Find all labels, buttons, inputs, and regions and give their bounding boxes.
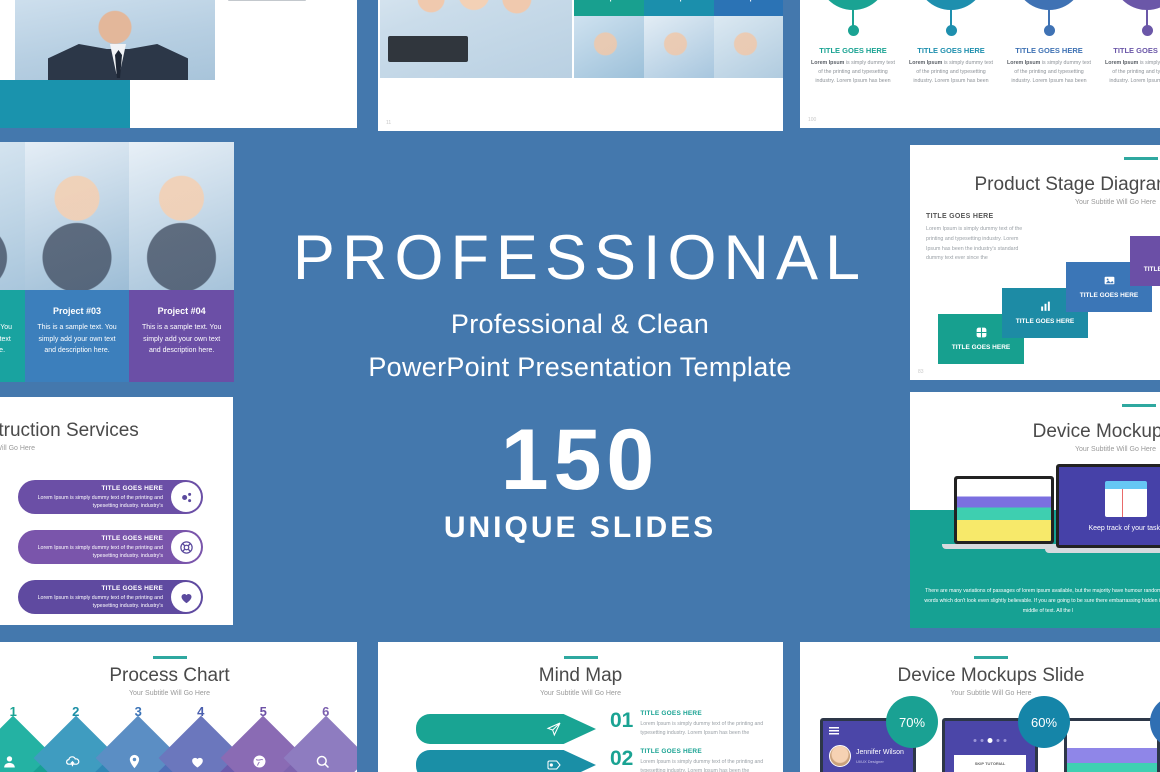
concept-tile-label: Concept #01 [588, 0, 630, 2]
hero-block: PROFESSIONAL Professional & Clean PowerP… [240, 140, 920, 630]
laptop-task-mockup: Keep track of your tasks [1056, 464, 1160, 556]
service-body: Lorem Ipsum is simply dummy text of the … [28, 544, 163, 561]
slide-product-stage-diagram[interactable]: Product Stage Diagram Your Subtitle Will… [910, 145, 1160, 380]
page-title: Process Chart [0, 665, 357, 687]
mindmap-arrow-1[interactable] [416, 714, 596, 744]
service-right-pill[interactable]: TITLE GOES HERE Lorem Ipsum is simply du… [18, 480, 203, 514]
stage-label: TITLE GOES HERE [1080, 291, 1139, 300]
step-stem [852, 10, 854, 26]
stage-label: TITLE GOES HERE [1144, 265, 1160, 274]
item-title: TITLE GOES HERE [640, 748, 778, 755]
concept-tile-1[interactable]: Concept #01 [574, 0, 644, 16]
concept-tile-label: Concept #03 [728, 0, 770, 2]
stage-staircase: TITLE GOES HERE TITLE GOES HERE TITLE GO… [938, 244, 1160, 364]
user-role: UI/UX Designer [856, 759, 884, 764]
thumbnail-3 [714, 16, 783, 78]
user-icon [2, 754, 18, 770]
thumbnail-1 [574, 16, 644, 78]
title-rule [564, 656, 598, 659]
slide-construction-services[interactable]: Construction Services Your Subtitle Will… [0, 397, 233, 625]
thumbnail-2 [644, 16, 714, 78]
step-item-3[interactable]: STEP 03 TITLE GOES HERE Lorem Ipsum is s… [1006, 0, 1092, 86]
title-rule [1124, 157, 1158, 160]
skip-tutorial-button[interactable]: SKIP TUTORIAL [954, 761, 1026, 766]
title-rule [974, 656, 1008, 659]
device-chart-mockup [1064, 718, 1160, 772]
item-body: Lorem Ipsum is simply dummy text of the … [640, 720, 778, 739]
page-title: Product Stage Diagram [910, 174, 1160, 196]
item-body: Lorem Ipsum is simply dummy text of the … [640, 758, 778, 772]
service-row-3[interactable]: Lorem Ipsum is simply dummy text of the … [0, 579, 233, 615]
project-desc: This is a sample text. You simply add yo… [34, 322, 121, 357]
step-item-2[interactable]: STEP 02 TITLE GOES HERE Lorem Ipsum is s… [908, 0, 994, 86]
step-dot [1044, 25, 1055, 36]
step-title: TITLE GOES HERE [819, 46, 887, 55]
laptop-screen [954, 476, 1054, 544]
location-pin-icon [127, 754, 143, 770]
service-row-1[interactable]: Lorem Ipsum is simply dummy text of the … [0, 479, 233, 515]
project-card-3[interactable]: Project #04 This is a sample text. You s… [129, 290, 234, 382]
hero-slide-count-label: UNIQUE SLIDES [444, 511, 716, 545]
step-stem [1048, 10, 1050, 26]
mindmap-items: 01 TITLE GOES HERE Lorem Ipsum is simply… [610, 710, 778, 772]
page-title: Device Mockups Slide [800, 665, 1160, 687]
services-header: Construction Services Your Subtitle Will… [0, 411, 233, 452]
process-number: 1 [0, 704, 45, 719]
thumbnail-strip [574, 16, 783, 78]
step-dot [848, 25, 859, 36]
page-title: Construction Services [0, 420, 233, 442]
tutorial-card: SKIP TUTORIAL [954, 755, 1026, 772]
step-circle-1: STEP 01 [818, 0, 888, 10]
process-diamonds [0, 728, 357, 772]
hero-slide-count: 150 [501, 417, 660, 503]
step-body: Lorem Ipsum is simply dummy text of the … [811, 59, 895, 86]
item-number: 02 [610, 748, 633, 772]
process-node-1[interactable] [0, 728, 45, 772]
area-chart-graphic [957, 479, 1051, 541]
project-photo-1 [0, 142, 25, 290]
area-chart-graphic [1067, 748, 1157, 772]
step-dot [1142, 25, 1153, 36]
slide-concepts[interactable]: Concept #01 Concept #01 [378, 0, 783, 131]
title-rule [153, 656, 187, 659]
project-card-2[interactable]: Project #03 This is a sample text. You s… [25, 290, 130, 382]
teal-accent-bar [0, 80, 130, 128]
step-item-1[interactable]: STEP 01 TITLE GOES HERE Lorem Ipsum is s… [810, 0, 896, 86]
service-right-pill[interactable]: TITLE GOES HERE Lorem Ipsum is simply du… [18, 530, 203, 564]
process-node-5[interactable] [232, 728, 295, 772]
page-number: 100 [808, 117, 816, 123]
process-numbers: 1 2 3 4 5 6 [0, 704, 357, 719]
heart-icon [189, 754, 205, 770]
slide-mind-map[interactable]: Mind Map Your Subtitle Will Go Here 01 T… [378, 642, 783, 772]
mindmap-arrows [416, 714, 596, 772]
slide-device-mockups[interactable]: Device Mockups Your Subtitle Will Go Her… [910, 392, 1160, 628]
page-subtitle: Your Subtitle Will Go Here [378, 690, 783, 697]
laptop-shape [388, 36, 468, 62]
slide-process-chart[interactable]: Process Chart Your Subtitle Will Go Here… [0, 642, 357, 772]
mindmap-header: Mind Map Your Subtitle Will Go Here [378, 656, 783, 697]
puzzle-icon [975, 326, 988, 339]
step-title: TITLE GOES HERE [1015, 46, 1083, 55]
hero-subtitle-2: PowerPoint Presentation Template [368, 352, 791, 383]
screen-caption: Keep track of your tasks [1088, 525, 1160, 532]
item-number: 01 [610, 710, 633, 739]
step-circle-2: STEP 02 [916, 0, 986, 10]
page-subtitle: Your Subtitle Will Go Here [800, 690, 1160, 697]
project-title: Project #03 [34, 306, 121, 316]
step-title: TITLE GOES HERE [917, 46, 985, 55]
service-right-pill[interactable]: TITLE GOES HERE Lorem Ipsum is simply du… [18, 580, 203, 614]
stage-label: TITLE GOES HERE [952, 343, 1011, 352]
task-app-screen: Keep track of your tasks [1059, 467, 1160, 545]
project-photo-2 [25, 142, 130, 290]
slide-device-mockups-slide[interactable]: Device Mockups Slide Your Subtitle Will … [800, 642, 1160, 772]
step-body: Lorem Ipsum is simply dummy text of the … [1105, 59, 1160, 86]
service-rows: Lorem Ipsum is simply dummy text of the … [0, 479, 233, 625]
block-title: TITLE GOES HERE [926, 213, 1034, 220]
process-node-2[interactable] [45, 728, 108, 772]
step-title: TITLE GOES HERE [1113, 46, 1160, 55]
devices-header: Device Mockups Slide Your Subtitle Will … [800, 656, 1160, 697]
step-dot [946, 25, 957, 36]
project-desc: This is a sample text. You simply add yo… [138, 322, 225, 357]
page-subtitle: Your Subtitle Will Go Here [910, 199, 1160, 206]
service-row-2[interactable]: Lorem Ipsum is simply dummy text of the … [0, 529, 233, 565]
share-nodes-icon [171, 482, 201, 512]
badge-percent-2: 60% [1018, 696, 1070, 748]
step-stem [950, 10, 952, 26]
hamburger-menu-icon[interactable] [829, 727, 839, 735]
project-photo-3 [129, 142, 234, 290]
process-node-4[interactable] [170, 728, 233, 772]
project-cards: Project #02 This is a sample text. You s… [0, 290, 234, 382]
bar-chart-icon [1039, 300, 1052, 313]
item-title: TITLE GOES HERE [640, 710, 778, 717]
page-subtitle: Your Subtitle Will Go Here [910, 446, 1160, 453]
title-rule [1122, 404, 1156, 407]
page-number: 11 [386, 120, 391, 126]
team-photo [380, 0, 572, 78]
device-row: Jennifer Wilson UI/UX Designer SKIP TUTO… [820, 718, 1160, 772]
step-item-4[interactable]: STEP 04 TITLE GOES HERE Lorem Ipsum is s… [1104, 0, 1160, 86]
process-header: Process Chart Your Subtitle Will Go Here [0, 656, 357, 697]
page-subtitle: Your Subtitle Will Go Here [0, 445, 233, 452]
service-body: Lorem Ipsum is simply dummy text of the … [28, 494, 163, 511]
globe-icon [252, 754, 268, 770]
concept-tile-3[interactable]: Concept #03 [714, 0, 783, 16]
concept-tiles: Concept #01 Concept #01 [574, 0, 783, 16]
avatar [829, 745, 851, 767]
concept-tile-2[interactable]: Concept #01 [644, 0, 714, 16]
concept-tile-label: Concept #01 [658, 0, 700, 2]
paper-plane-icon [546, 721, 562, 737]
step-circle-3: STEP 03 [1014, 0, 1084, 10]
poster-canvas: Concept #01 Concept #01 [0, 0, 1160, 772]
page-title: Device Mockups [910, 421, 1160, 443]
step-circle-4: STEP 04 [1112, 0, 1160, 10]
hero-subtitle-1: Professional & Clean [451, 309, 709, 340]
pagination-dots [974, 739, 1007, 743]
mindmap-arrow-2[interactable] [416, 750, 596, 772]
project-card-1[interactable]: Project #02 This is a sample text. You s… [0, 290, 25, 382]
project-title: Project #04 [138, 306, 225, 316]
lifebuoy-icon [171, 532, 201, 562]
project-desc: This is a sample text. You simply add yo… [0, 322, 16, 357]
image-icon [1103, 274, 1116, 287]
tag-icon [546, 757, 562, 772]
badge-percent-1: 70% [886, 696, 938, 748]
slide-projects[interactable]: Project #02 This is a sample text. You s… [0, 142, 234, 382]
mindmap-item-2[interactable]: 02 TITLE GOES HERE Lorem Ipsum is simply… [610, 748, 778, 772]
page-title: Mind Map [378, 665, 783, 687]
service-title: TITLE GOES HERE [28, 585, 163, 592]
laptop-screen: Keep track of your tasks [1056, 464, 1160, 548]
hero-title: PROFESSIONAL [293, 225, 867, 291]
project-title: Project #02 [0, 306, 16, 316]
cloud-upload-icon [64, 754, 80, 770]
steps-row: STEP 01 TITLE GOES HERE Lorem Ipsum is s… [810, 0, 1160, 86]
slide-steps[interactable]: STEP 01 TITLE GOES HERE Lorem Ipsum is s… [800, 0, 1160, 128]
service-body: Lorem Ipsum is simply dummy text of the … [28, 594, 163, 611]
service-title: TITLE GOES HERE [28, 535, 163, 542]
process-node-3[interactable] [107, 728, 170, 772]
user-name: Jennifer Wilson [856, 749, 904, 756]
step-stem [1146, 10, 1148, 26]
stage-step-4[interactable]: TITLE GOES HERE [1130, 236, 1160, 286]
task-list-icon [1105, 481, 1147, 517]
slide-person-quote[interactable] [0, 0, 357, 128]
heart-icon [171, 582, 201, 612]
step-body: Lorem Ipsum is simply dummy text of the … [1007, 59, 1091, 86]
footer-text: There are many variations of passages of… [924, 586, 1160, 616]
step-body: Lorem Ipsum is simply dummy text of the … [909, 59, 993, 86]
laptop-chart-mockup [954, 476, 1054, 552]
stage-label: TITLE GOES HERE [1016, 317, 1075, 326]
laptop-base [1045, 548, 1160, 553]
mindmap-item-1[interactable]: 01 TITLE GOES HERE Lorem Ipsum is simply… [610, 710, 778, 739]
process-node-6[interactable] [295, 728, 358, 772]
service-title: TITLE GOES HERE [28, 485, 163, 492]
project-photos [0, 142, 234, 290]
quote-text-block [228, 0, 340, 6]
page-subtitle: Your Subtitle Will Go Here [0, 690, 357, 697]
search-icon [314, 754, 330, 770]
